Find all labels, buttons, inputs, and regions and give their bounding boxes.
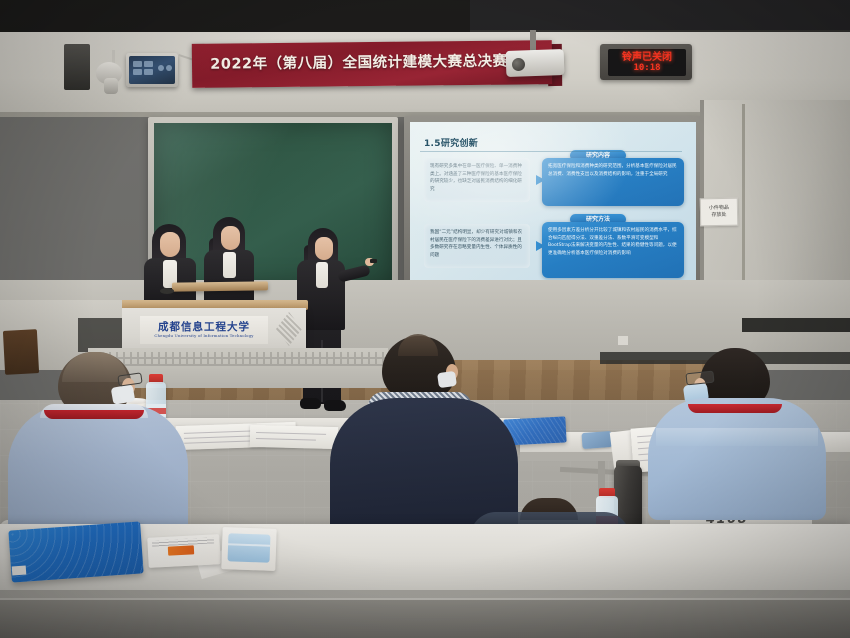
presenter-3-shoe-left xyxy=(300,398,321,409)
slide-title-rule xyxy=(420,151,682,152)
slide-gap-block-1: 现有研究多集中在单一医疗保险、单一消费种类上。对涵盖了三种医疗保险的基本医疗保险… xyxy=(424,158,530,202)
bubble-mailer-texture xyxy=(8,521,143,582)
cabinet-recess xyxy=(78,318,122,352)
presenter-2-face xyxy=(221,226,240,250)
panel-button-2[interactable] xyxy=(144,61,153,67)
led-status-text: 铃声已关闭 xyxy=(622,52,672,63)
slide-research-method-block: 使用多因素方差分析分开比较了城镇和农村居民的消费水平，综合纵向匹配得分法、双重差… xyxy=(542,222,684,278)
slide-title: 1.5研究创新 xyxy=(424,136,624,149)
storage-sign-line2: 存放处 xyxy=(711,212,726,219)
led-clock-text: 10:18 xyxy=(633,63,660,73)
camera-lens-icon xyxy=(104,78,118,94)
panel-button-3[interactable] xyxy=(133,69,142,75)
mailer-shipping-label xyxy=(12,566,27,576)
storage-sign: 小件物品 存放处 xyxy=(700,198,738,227)
judging-documents-2 xyxy=(250,425,339,449)
presenter-3-face xyxy=(315,237,333,260)
banner-text: 2022年（第八届）全国统计建模大赛总决赛C组 xyxy=(192,49,552,74)
judge-1-lanyard xyxy=(44,410,144,419)
judge-2-face-mask xyxy=(437,371,457,388)
wall-speaker xyxy=(64,44,90,90)
mask-package-1-graphic xyxy=(168,545,194,555)
slide-gap-block-2: 我国“二元”结构明显，却少有研究对城镇和农村居民在医疗保险下的消费差异进行对比；… xyxy=(424,224,530,268)
microphone-base xyxy=(160,288,174,294)
control-panel-screen[interactable] xyxy=(129,56,175,84)
panel-dial2-icon[interactable] xyxy=(166,65,172,71)
panel-button-1[interactable] xyxy=(133,61,142,67)
mobile-phone[interactable] xyxy=(581,431,612,449)
judge-1-body xyxy=(8,404,188,536)
wall-outlet2-icon xyxy=(618,336,628,345)
judge-3-body xyxy=(648,398,826,520)
university-name-cn: 成都信息工程大学 xyxy=(158,321,250,333)
event-banner: 2022年（第八届）全国统计建模大赛总决赛C组 xyxy=(192,40,552,88)
panel-dial-icon[interactable] xyxy=(158,65,164,71)
lectern-top xyxy=(172,281,268,291)
judge-3-shirt-yoke xyxy=(656,428,818,446)
presenter-1-face xyxy=(160,232,180,257)
surgical-mask-icon xyxy=(228,533,271,562)
presenter-3-shoe-right xyxy=(324,400,346,411)
presentation-clicker xyxy=(370,259,377,263)
led-display: 铃声已关闭 10:18 xyxy=(608,49,686,76)
panel-button-4[interactable] xyxy=(144,69,153,75)
university-nameplate: 成都信息工程大学 Chengdu University of Informati… xyxy=(140,316,268,344)
wooden-chair[interactable] xyxy=(3,329,39,375)
ceiling-recess-left xyxy=(0,0,470,34)
slide-research-content-block: 拓宽医疗保险和消费种类的研究范围，分析基本医疗保险对居民总消费、消费性支出以及消… xyxy=(542,158,684,206)
classroom-scene: 2022年（第八届）全国统计建模大赛总决赛C组 铃声已关闭 10:18 现有研究… xyxy=(0,0,850,638)
ceiling-recess-right xyxy=(470,0,850,30)
university-name-en: Chengdu University of Information Techno… xyxy=(154,333,253,339)
judge-3-lanyard xyxy=(688,404,782,413)
baseboard-right xyxy=(742,318,850,332)
wall-control-panel[interactable] xyxy=(126,53,178,87)
presenter-2-shirt xyxy=(223,252,236,278)
acoustic-panel-perforations xyxy=(88,352,388,366)
presenter-3-shirt xyxy=(316,262,328,288)
projector-mount xyxy=(530,30,536,52)
foreground-desk-underside xyxy=(0,600,850,638)
